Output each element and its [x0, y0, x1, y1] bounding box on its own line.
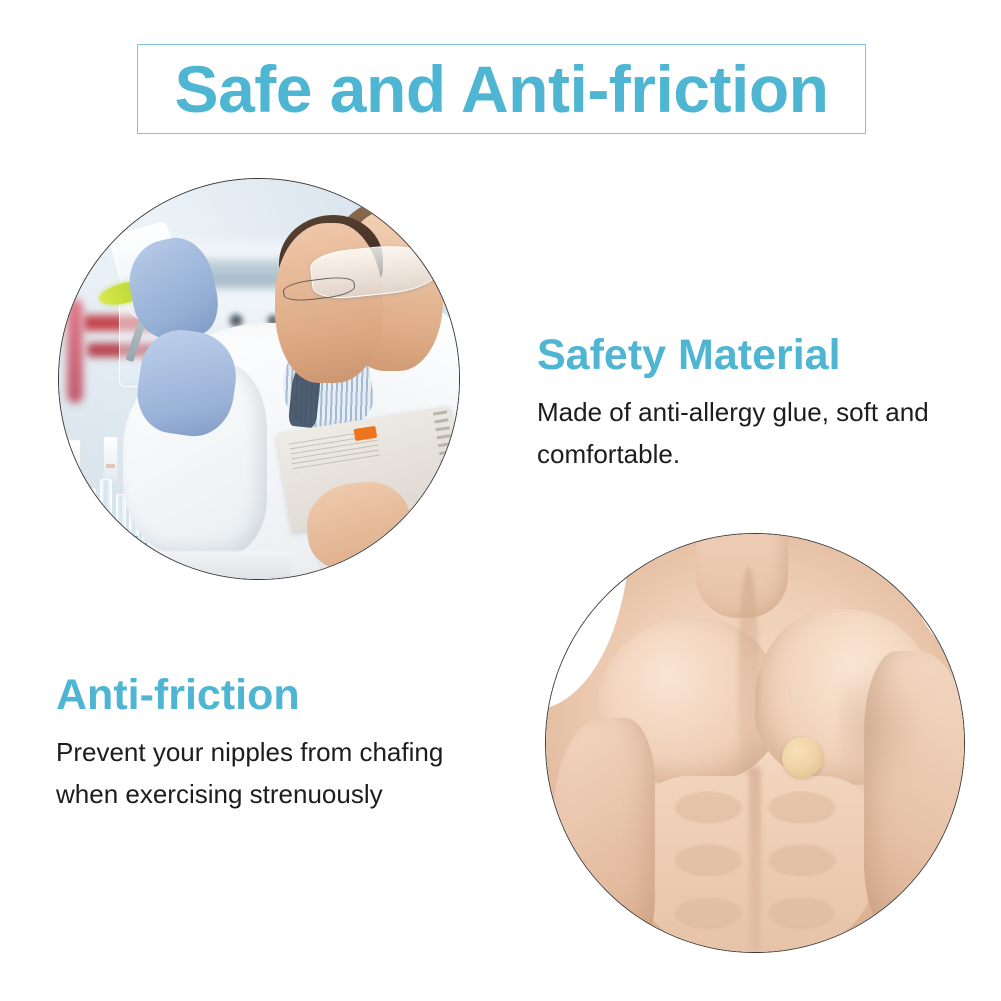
lab-pink-tube [67, 299, 83, 403]
body-photo-circle [545, 533, 965, 953]
feature-body-safety-material: Made of anti-allergy glue, soft and comf… [537, 391, 957, 475]
lab-photo-illustration [59, 179, 459, 579]
cylinder-fluid-2 [102, 517, 110, 574]
nipple-cover-patch [782, 737, 823, 778]
lab-photo-circle [58, 178, 460, 580]
graduated-cylinder-2 [100, 479, 112, 576]
test-tube-fluid-1 [117, 527, 125, 572]
shoulder-shading-right [839, 659, 923, 793]
feature-heading-safety-material: Safety Material [537, 332, 957, 379]
pipette-tip-2 [103, 436, 119, 482]
feature-anti-friction: Anti-friction Prevent your nipples from … [56, 672, 456, 816]
pipette-tip-1 [66, 439, 82, 485]
cylinder-fluid-1 [86, 529, 94, 574]
feature-heading-anti-friction: Anti-friction [56, 672, 456, 719]
sternum-line [738, 567, 759, 801]
chest-illustration [546, 534, 964, 952]
graduated-cylinder-1 [84, 488, 96, 576]
infographic-page: Safe and Anti-friction [0, 0, 1001, 1001]
feature-body-anti-friction: Prevent your nipples from chafing when e… [56, 731, 456, 815]
arm-left [554, 718, 654, 952]
linea-alba [749, 768, 762, 952]
lab-keyboard [131, 551, 291, 580]
test-tube-1 [116, 494, 126, 573]
page-title: Safe and Anti-friction [175, 56, 829, 122]
feature-safety-material: Safety Material Made of anti-allergy glu… [537, 332, 957, 476]
title-banner: Safe and Anti-friction [137, 44, 866, 134]
